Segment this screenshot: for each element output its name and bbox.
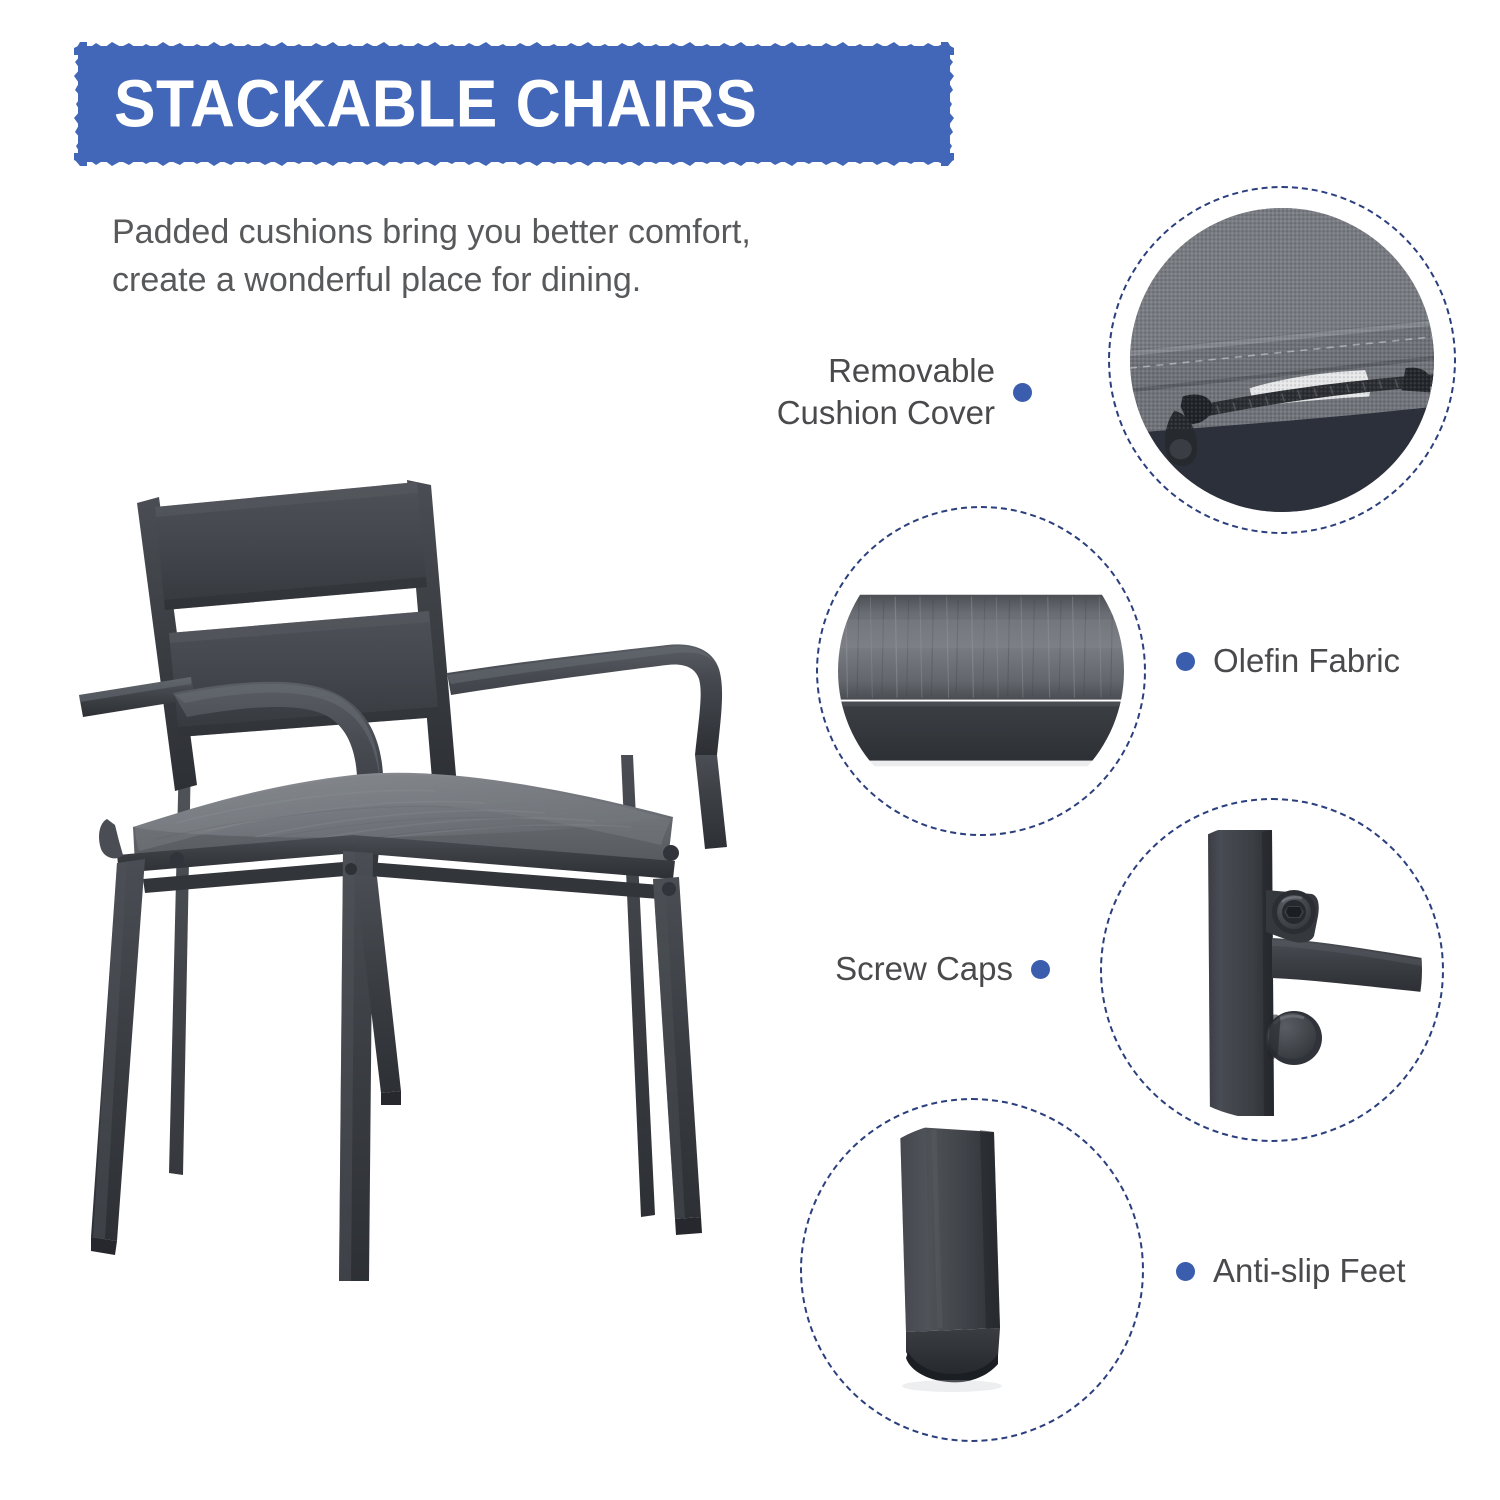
subtitle-text: Padded cushions bring you better comfort…	[112, 208, 932, 305]
subtitle-line-1: Padded cushions bring you better comfort…	[112, 208, 932, 256]
cushion-tie-strap	[99, 819, 123, 858]
subtitle-line-2: create a wonderful place for dining.	[112, 256, 932, 304]
callout-marker-dot-icon	[1176, 652, 1195, 671]
callout-label-anti-slip-feet[interactable]: Anti-slip Feet	[1176, 1250, 1406, 1292]
detail-photo-zipper-cushion	[1130, 208, 1434, 512]
chair-right-arm-support	[695, 755, 727, 849]
callout-label-line-1: Anti-slip Feet	[1213, 1250, 1406, 1292]
callout-marker-dot-icon	[1176, 1262, 1195, 1281]
callout-image-screw-caps	[1100, 798, 1444, 1142]
page-title: STACKABLE CHAIRS	[114, 71, 757, 138]
callout-image-olefin-fabric	[816, 506, 1146, 836]
callout-label-removable-cushion-cover[interactable]: Removable Cushion Cover	[782, 350, 1032, 434]
chair-rear-center-foot	[381, 1091, 401, 1105]
chair-front-right-foot	[675, 1217, 702, 1235]
frame-screw-cap-left	[170, 852, 184, 866]
callout-label-line-1: Olefin Fabric	[1213, 640, 1400, 682]
callout-label-olefin-fabric[interactable]: Olefin Fabric	[1176, 640, 1400, 682]
callout-image-anti-slip-feet	[800, 1098, 1144, 1442]
callout-label-line-1: Screw Caps	[835, 948, 1013, 990]
banner-rough-bottom-edge	[74, 153, 954, 169]
banner-rough-right-edge	[941, 42, 957, 166]
product-chair-image	[55, 455, 755, 1285]
frame-screw-cap-right	[663, 845, 679, 861]
banner-rough-left-edge	[71, 42, 87, 166]
title-banner: STACKABLE CHAIRS	[78, 46, 950, 162]
detail-photo-screw-caps	[1122, 820, 1422, 1120]
frame-screw-cap-right-lower	[662, 882, 676, 896]
callout-marker-dot-icon	[1031, 960, 1050, 979]
callout-image-removable-cushion-cover	[1108, 186, 1456, 534]
frame-screw-cap-center	[345, 863, 357, 875]
callout-marker-dot-icon	[1013, 383, 1032, 402]
banner-rough-top-edge	[74, 39, 954, 55]
callout-label-text-group: Removable Cushion Cover	[777, 350, 995, 434]
detail-photo-olefin-fabric	[838, 528, 1124, 814]
callout-label-line-1: Removable	[777, 350, 995, 392]
infographic-page: STACKABLE CHAIRS Padded cushions bring y…	[0, 0, 1500, 1500]
callout-label-screw-caps[interactable]: Screw Caps	[790, 948, 1050, 990]
detail-photo-anti-slip-feet	[822, 1120, 1122, 1420]
callout-label-line-2: Cushion Cover	[777, 392, 995, 434]
